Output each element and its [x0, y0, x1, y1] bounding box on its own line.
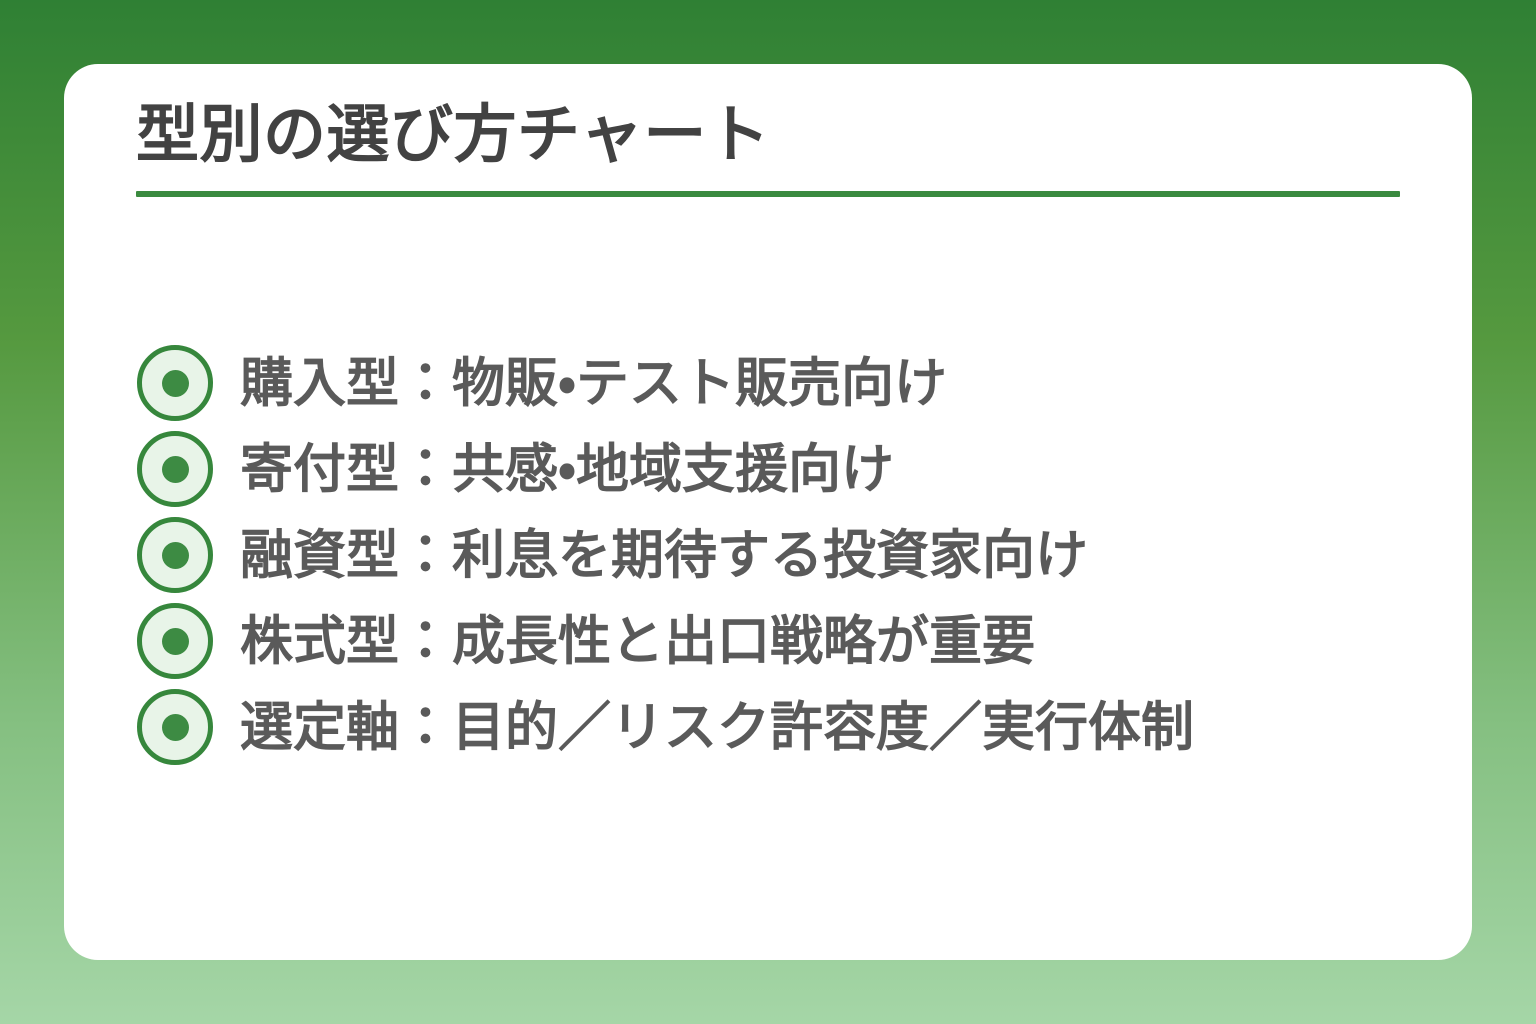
filled-circle-bullet-icon: [137, 517, 213, 593]
list-item: 株式型：成長性と出口戦略が重要: [137, 598, 1427, 684]
filled-circle-bullet-icon: [137, 689, 213, 765]
list-item: 融資型：利息を期待する投資家向け: [137, 512, 1427, 598]
list-item-label: 寄付型：共感・地域支援向け: [240, 443, 894, 496]
list-item-label: 購入型：物販・テスト販売向け: [240, 357, 947, 410]
filled-circle-bullet-icon: [137, 345, 213, 421]
bullet-dot: [162, 456, 189, 483]
bullet-dot: [162, 714, 189, 741]
bullet-list: 購入型：物販・テスト販売向け 寄付型：共感・地域支援向け 融資型：利息を期待する…: [137, 340, 1427, 770]
title-block: 型別の選び方チャート: [136, 100, 1400, 197]
list-item: 寄付型：共感・地域支援向け: [137, 426, 1427, 512]
list-item: 選定軸：目的／リスク許容度／実行体制: [137, 684, 1427, 770]
list-item-label: 融資型：利息を期待する投資家向け: [240, 529, 1088, 582]
list-item-label: 選定軸：目的／リスク許容度／実行体制: [240, 701, 1194, 754]
filled-circle-bullet-icon: [137, 431, 213, 507]
title-underline-rule: [136, 191, 1400, 197]
filled-circle-bullet-icon: [137, 603, 213, 679]
list-item: 購入型：物販・テスト販売向け: [137, 340, 1427, 426]
bullet-dot: [162, 628, 189, 655]
content-card: 型別の選び方チャート 購入型：物販・テスト販売向け 寄付型：共感・地域支援向け: [64, 64, 1472, 960]
bullet-dot: [162, 370, 189, 397]
page-title: 型別の選び方チャート: [136, 100, 1400, 171]
bullet-dot: [162, 542, 189, 569]
slide-root: 型別の選び方チャート 購入型：物販・テスト販売向け 寄付型：共感・地域支援向け: [0, 0, 1536, 1024]
list-item-label: 株式型：成長性と出口戦略が重要: [240, 615, 1035, 668]
